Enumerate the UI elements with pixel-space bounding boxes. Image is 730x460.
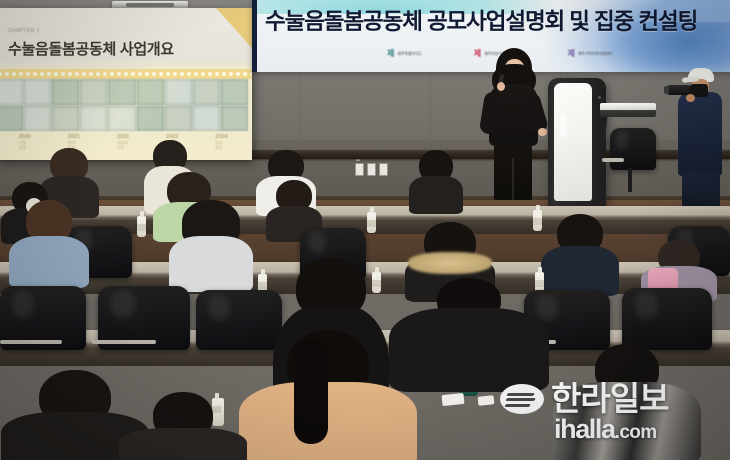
attendee bbox=[540, 214, 620, 294]
attendee bbox=[168, 200, 254, 288]
presenter-leg-split bbox=[512, 158, 514, 200]
chair-armrest bbox=[0, 340, 62, 344]
attendee bbox=[118, 392, 248, 460]
water-bottle bbox=[137, 216, 146, 237]
lectern-front-panel bbox=[554, 83, 592, 201]
outlet-label: ■■ bbox=[356, 158, 360, 162]
press-photographer bbox=[668, 58, 730, 210]
water-bottle bbox=[367, 212, 376, 233]
wall-outlet-icon bbox=[355, 163, 364, 176]
attendee-clothing bbox=[9, 236, 89, 288]
slide-eyebrow: CHAPTER 1 bbox=[8, 28, 40, 34]
timeline-item: 2022 내실화 추진 bbox=[117, 134, 129, 160]
attendee-clothing bbox=[409, 176, 463, 214]
banner-title: 수눌음돌봄공동체 공모사업설명회 및 집중 컨설팅 bbox=[265, 4, 697, 36]
stage-chair-arm bbox=[602, 158, 624, 162]
presentation-slide: CHAPTER 1 수눌음돌봄공동체 사업개요 2020 시범 운영 202 bbox=[0, 8, 252, 160]
presenter-hand-left bbox=[497, 82, 505, 91]
tissue bbox=[441, 393, 464, 406]
ponytail bbox=[294, 340, 328, 444]
audience-chair bbox=[622, 288, 712, 350]
slide-title: 수눌음돌봄공동체 사업개요 bbox=[8, 38, 174, 59]
projection-screen: CHAPTER 1 수눌음돌봄공동체 사업개요 2020 시범 운영 202 bbox=[0, 8, 252, 160]
chair-armrest bbox=[92, 340, 156, 344]
timeline-item: 2020 시범 운영 bbox=[18, 134, 30, 160]
slide-corner-accent bbox=[216, 8, 252, 48]
presenter-hand-right bbox=[538, 128, 547, 136]
lectern bbox=[548, 78, 606, 208]
attendee-clothing bbox=[389, 308, 549, 392]
fur-hood-trim bbox=[408, 252, 492, 274]
photographer-legs bbox=[682, 172, 720, 210]
attendee bbox=[8, 196, 90, 282]
side-shelf bbox=[600, 103, 656, 117]
ceiling-mount bbox=[215, 0, 249, 8]
slide-photo-grid bbox=[0, 79, 248, 131]
org-logo-icon: 제 제주특별자치도 bbox=[387, 48, 422, 59]
timeline-item: 2024 성과 확산 bbox=[215, 134, 227, 160]
slide-dot-band bbox=[0, 69, 252, 79]
attendee-clothing bbox=[239, 382, 417, 460]
attendee-clothing bbox=[169, 236, 253, 292]
stage-chair bbox=[610, 128, 656, 170]
chair-post bbox=[628, 168, 632, 192]
tissue bbox=[478, 395, 495, 406]
org-logo-icon: 제 제주가족친화지원센터 bbox=[567, 48, 612, 59]
attendee bbox=[552, 344, 702, 460]
attendee-clothing bbox=[553, 382, 701, 460]
wall-outlet-icon bbox=[367, 163, 376, 176]
photographer-jacket bbox=[678, 92, 722, 176]
lectern-indicator bbox=[598, 96, 601, 99]
photograph: ■■ CHAPTER 1 수눌음돌봄공동체 사업개요 2020 시범 bbox=[0, 0, 730, 460]
presenter bbox=[470, 48, 556, 200]
ceiling-fixture-vent bbox=[126, 3, 174, 7]
attendee-clothing bbox=[541, 246, 619, 296]
attendee-clothing bbox=[119, 428, 247, 460]
attendee bbox=[408, 150, 464, 210]
photographer-hand bbox=[686, 94, 695, 102]
attendee bbox=[388, 278, 550, 388]
wall-outlet-icon bbox=[379, 163, 388, 176]
